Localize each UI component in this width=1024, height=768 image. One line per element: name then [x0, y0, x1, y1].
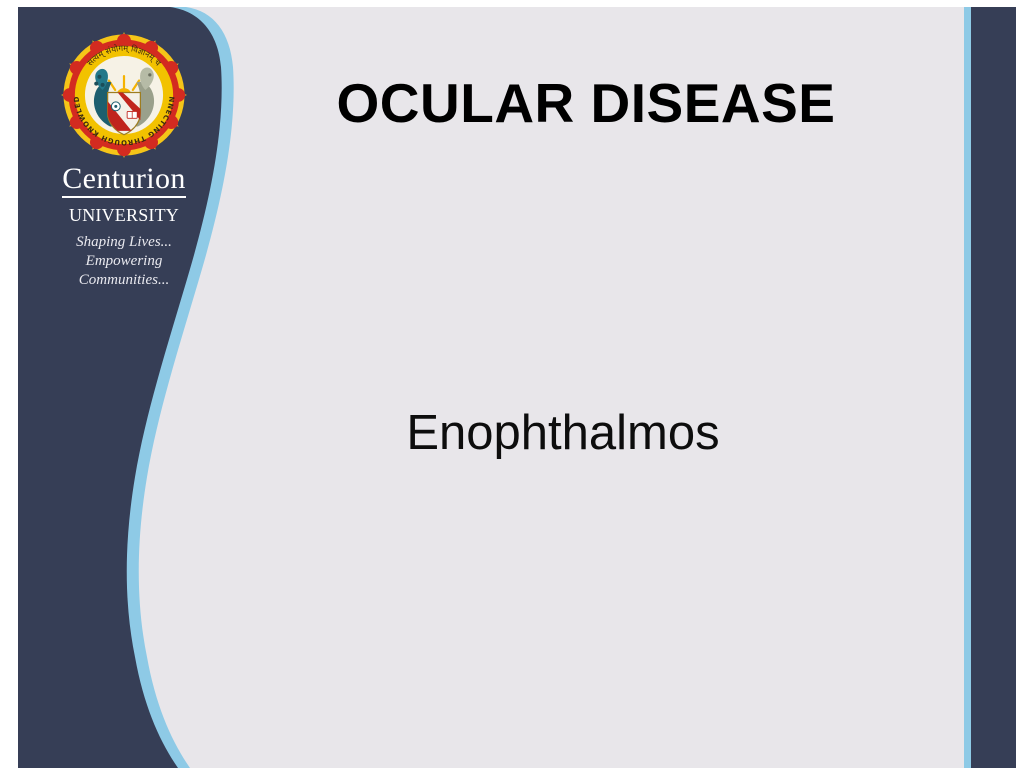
- slide-title: OCULAR DISEASE: [276, 73, 896, 134]
- slide-canvas-root: सत्यम् संयोगम् विज्ञानम् च CONNECTING TH…: [0, 0, 1024, 768]
- slide-body-text: Enophthalmos: [233, 405, 893, 461]
- logo-tagline: Shaping Lives... Empowering Communities.…: [40, 233, 208, 289]
- logo-tagline-line-2: Empowering Communities...: [40, 252, 208, 290]
- slide-content-area: सत्यम् संयोगम् विज्ञानम् च CONNECTING TH…: [18, 7, 1016, 768]
- university-emblem-icon: सत्यम् संयोगम् विज्ञानम् च CONNECTING TH…: [61, 32, 187, 158]
- right-blue-stripe: [964, 7, 971, 768]
- logo-wordmark: Centurion University Shaping Lives... Em…: [40, 164, 208, 289]
- logo-name-university: University: [40, 201, 208, 226]
- logo-tagline-line-1: Shaping Lives...: [40, 233, 208, 252]
- right-navy-band: [971, 7, 1016, 768]
- logo-name-centurion: Centurion: [62, 164, 186, 198]
- university-logo: सत्यम् संयोगम् विज्ञानम् च CONNECTING TH…: [40, 32, 208, 289]
